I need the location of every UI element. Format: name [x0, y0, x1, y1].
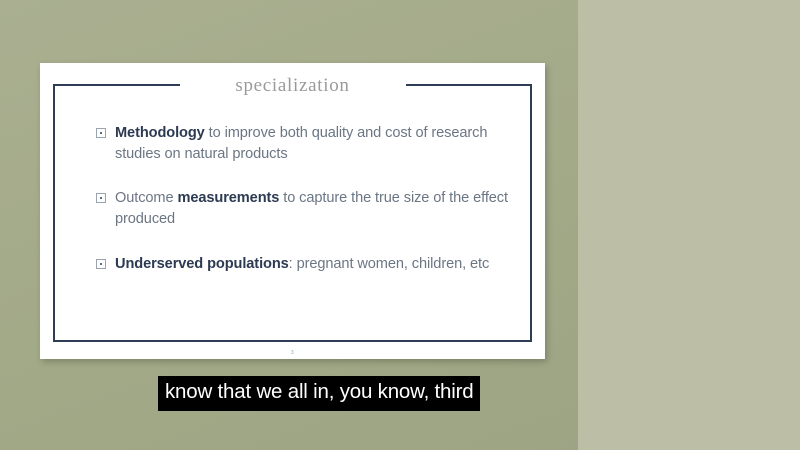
slide-bullet-list: Methodology to improve both quality and …: [96, 123, 511, 275]
square-dot-marker-icon: [96, 128, 106, 138]
slide-title: specialization: [235, 75, 349, 97]
list-item: Outcome measurements to capture the true…: [96, 188, 511, 230]
bullet-text: Underserved populations: pregnant women,…: [115, 254, 489, 275]
slide-number: 3: [40, 350, 545, 356]
bullet-bold-lead: Methodology: [115, 125, 205, 141]
list-item: Methodology to improve both quality and …: [96, 123, 511, 165]
square-dot-marker-icon: [96, 259, 106, 269]
bullet-pre: Outcome: [115, 190, 177, 206]
caption-subtitle: know that we all in, you know, third: [158, 376, 480, 411]
presentation-slide: specialization Methodology to improve bo…: [40, 63, 545, 359]
speaker-info-panel: Jesse Hawkins Clary Sage During Pregnanc…: [578, 0, 800, 450]
square-dot-marker-icon: [96, 193, 106, 203]
list-item: Underserved populations: pregnant women,…: [96, 254, 511, 275]
bullet-text: Outcome measurements to capture the true…: [115, 188, 511, 230]
bullet-bold-lead: measurements: [177, 190, 279, 206]
bullet-text: Methodology to improve both quality and …: [115, 123, 511, 165]
bullet-bold-lead: Underserved populations: [115, 256, 289, 272]
bullet-rest: : pregnant women, children, etc: [289, 256, 490, 272]
